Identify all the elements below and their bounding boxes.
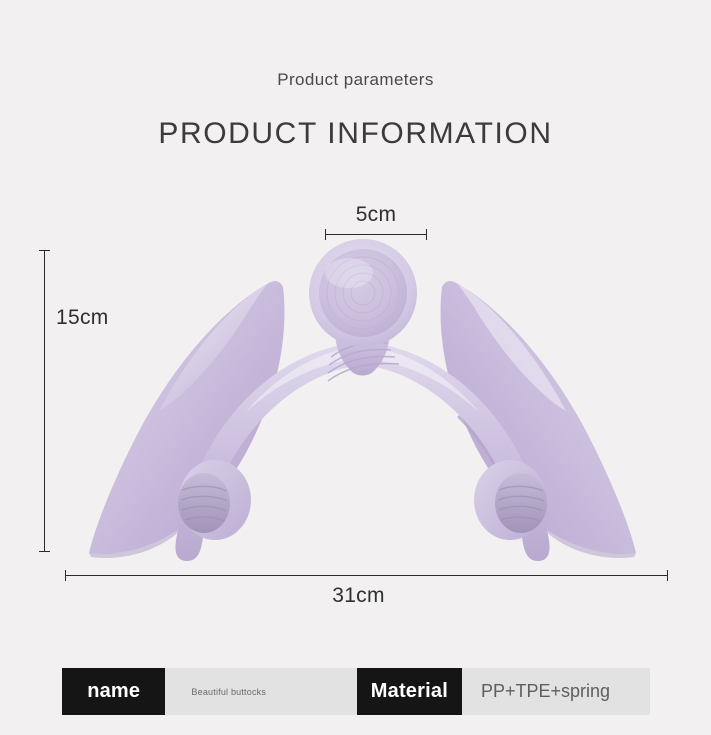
width-dimension-label: 5cm [356, 203, 397, 226]
specification-table: name Beautiful buttocks Material PP+TPE+… [62, 668, 650, 715]
length-dimension-line [65, 575, 668, 576]
spec-value-name: Beautiful buttocks [165, 668, 356, 715]
length-dimension-label-wrap: 31cm [0, 584, 711, 608]
width-dimension-label-wrap: 5cm [0, 203, 711, 227]
product-information-page: Product parameters PRODUCT INFORMATION [0, 0, 711, 735]
length-dimension-label: 31cm [332, 584, 385, 607]
height-dimension-label: 15cm [56, 306, 109, 330]
page-title: PRODUCT INFORMATION [0, 117, 711, 151]
height-dimension-line [44, 250, 45, 552]
spec-value-material: PP+TPE+spring [462, 668, 650, 715]
spec-key-name: name [62, 668, 165, 715]
center-circular-pad [309, 239, 417, 347]
width-dimension-line [325, 234, 427, 235]
page-subtitle: Product parameters [0, 70, 711, 90]
hip-trainer-illustration [55, 235, 670, 565]
spec-key-material: Material [357, 668, 462, 715]
product-illustration-stage [0, 180, 711, 600]
